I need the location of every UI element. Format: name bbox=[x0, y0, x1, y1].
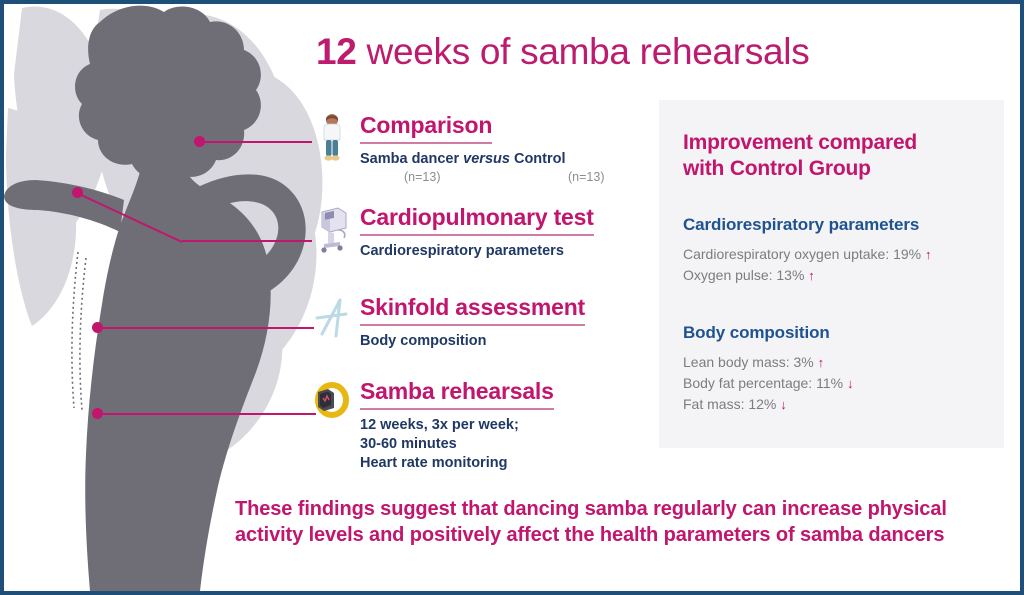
trend-up-icon: ↑ bbox=[808, 268, 815, 283]
stat-label: Cardiorespiratory oxygen uptake: 19% bbox=[683, 246, 921, 262]
stat-label: Lean body mass: 3% bbox=[683, 354, 814, 370]
item-subtitle: Cardiorespiratory parameters bbox=[360, 242, 594, 261]
stat-row: Body fat percentage: 11% ↓ bbox=[683, 373, 982, 394]
section-title-body-composition: Body composition bbox=[683, 322, 982, 343]
stat-label: Body fat percentage: 11% bbox=[683, 375, 843, 391]
skinfold-caliper-icon bbox=[310, 294, 354, 346]
stat-row: Oxygen pulse: 13% ↑ bbox=[683, 265, 982, 286]
trend-down-icon: ↓ bbox=[780, 397, 787, 412]
item-detail-line-2: 30-60 minutes bbox=[360, 435, 554, 454]
stat-row: Lean body mass: 3% ↑ bbox=[683, 352, 982, 373]
item-detail-line-3: Heart rate monitoring bbox=[360, 454, 554, 473]
smartwatch-icon bbox=[310, 378, 354, 430]
panel-heading-line-2: with Control Group bbox=[683, 157, 871, 180]
list-item-skinfold[interactable]: Skinfold assessment Body composition bbox=[310, 294, 585, 351]
title-number: 12 bbox=[316, 31, 357, 72]
subtitle-italic: versus bbox=[463, 151, 510, 167]
trend-down-icon: ↓ bbox=[847, 376, 854, 391]
subtitle-prefix: Samba dancer bbox=[360, 151, 463, 167]
trend-up-icon: ↑ bbox=[818, 355, 825, 370]
page-title: 12 weeks of samba rehearsals bbox=[316, 30, 1006, 74]
list-item-cardiopulmonary[interactable]: Cardiopulmonary test Cardiorespiratory p… bbox=[310, 204, 594, 261]
stat-label: Fat mass: 12% bbox=[683, 396, 776, 412]
item-heading: Comparison bbox=[360, 112, 492, 144]
standing-person-icon bbox=[310, 112, 354, 164]
n-samba-dancer: (n=13) bbox=[404, 170, 440, 184]
list-item-comparison[interactable]: Comparison Samba dancer versus Control (… bbox=[310, 112, 566, 188]
subtitle-suffix: Control bbox=[510, 151, 566, 167]
n-control: (n=13) bbox=[568, 170, 604, 184]
item-heading: Skinfold assessment bbox=[360, 294, 585, 326]
infographic-root: 12 weeks of samba rehearsals Comparison … bbox=[0, 0, 1024, 595]
sample-size-row: (n=13) (n=13) bbox=[360, 170, 566, 188]
item-heading: Cardiopulmonary test bbox=[360, 204, 594, 236]
stat-label: Oxygen pulse: 13% bbox=[683, 267, 804, 283]
item-subtitle: Body composition bbox=[360, 332, 585, 351]
stat-row: Fat mass: 12% ↓ bbox=[683, 394, 982, 415]
cardiopulmonary-machine-icon bbox=[310, 204, 354, 256]
list-item-rehearsals[interactable]: Samba rehearsals 12 weeks, 3x per week; … bbox=[310, 378, 554, 473]
conclusion-text: These findings suggest that dancing samb… bbox=[235, 496, 995, 548]
panel-heading: Improvement compared with Control Group bbox=[683, 130, 982, 182]
stat-row: Cardiorespiratory oxygen uptake: 19% ↑ bbox=[683, 244, 982, 265]
trend-up-icon: ↑ bbox=[925, 247, 932, 262]
item-detail-line-1: 12 weeks, 3x per week; bbox=[360, 416, 554, 435]
section-title-cardiorespiratory: Cardiorespiratory parameters bbox=[683, 214, 982, 235]
results-panel: Improvement compared with Control Group … bbox=[659, 100, 1004, 448]
item-heading: Samba rehearsals bbox=[360, 378, 554, 410]
panel-heading-line-1: Improvement compared bbox=[683, 131, 917, 154]
title-rest: weeks of samba rehearsals bbox=[357, 31, 810, 72]
item-subtitle: Samba dancer versus Control bbox=[360, 150, 566, 169]
